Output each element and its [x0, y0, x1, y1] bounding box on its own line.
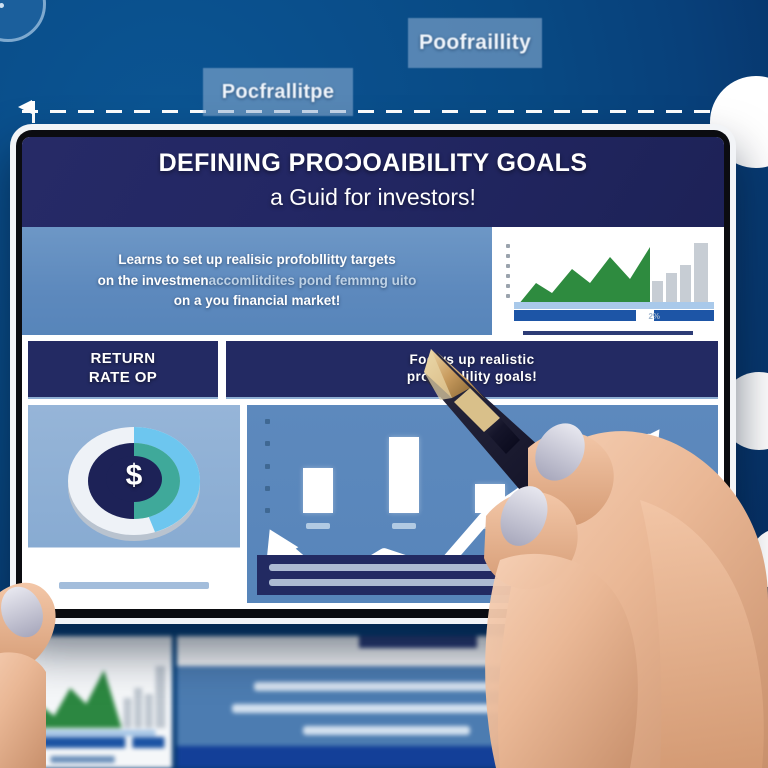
intro-line-2a: on the investmen	[98, 273, 209, 288]
bar-item	[562, 452, 592, 513]
area-chart-y-axis	[502, 235, 514, 323]
intro-line-1: Learns to set up realisic profobllitty t…	[118, 252, 396, 267]
background-card-right	[600, 636, 760, 768]
content-row-bottom: $	[22, 405, 724, 609]
presentation-header: DEFINING PROƆOAIBILITY GOALS a Guid for …	[22, 137, 724, 227]
measure-tick-right	[733, 101, 736, 123]
card-return-rate-label: RETURN RATE OP	[89, 350, 157, 388]
arrow-left-icon	[18, 100, 32, 114]
background-card-left	[8, 636, 172, 768]
page-subtitle: a Guid for investors!	[22, 184, 724, 211]
intro-text-panel: Learns to set up realisic profobllitty t…	[22, 227, 492, 335]
measure-dashed-line	[22, 110, 746, 113]
content-row-top: Learns to set up realisic profobllitty t…	[22, 227, 724, 335]
tablet-bezel: DEFINING PROƆOAIBILITY GOALS a Guid for …	[16, 130, 730, 618]
bar-item	[475, 484, 505, 513]
dollar-icon: $	[126, 459, 143, 493]
donut-chart-caption	[59, 582, 209, 589]
bar-chart-y-axis	[259, 415, 275, 533]
decorative-bubble-right-3	[750, 528, 768, 590]
card-return-rate[interactable]: RETURN RATE OP	[28, 341, 218, 399]
tablet-device: DEFINING PROƆOAIBILITY GOALS a Guid for …	[10, 124, 736, 624]
arrow-right-icon	[736, 100, 750, 114]
page-title: DEFINING PROƆOAIBILITY GOALS	[22, 149, 724, 178]
intro-line-2b: accomlitdites pond femmng uito	[209, 273, 417, 288]
card-profitability-goals-label: Foows up realistic profuBelility goals!	[407, 352, 537, 386]
bar-item	[389, 437, 419, 513]
area-chart-plot: 2%	[514, 235, 714, 323]
bar-chart	[259, 415, 706, 533]
area-chart: 2%	[502, 235, 714, 323]
floating-label-poofraillity: Poofraillity	[408, 18, 542, 68]
area-chart-pct-label: 2%	[648, 312, 660, 321]
decorative-bubble-top-left	[0, 0, 46, 42]
background-card-middle	[177, 636, 595, 768]
bar-item	[303, 468, 333, 513]
card-profitability-goals[interactable]: Foows up realistic profuBelility goals!	[226, 341, 718, 399]
tablet-screen: DEFINING PROƆOAIBILITY GOALS a Guid for …	[22, 137, 724, 609]
background-dashboard-strip	[8, 636, 760, 768]
bar-chart-caption	[257, 555, 708, 595]
donut-chart-panel: $	[28, 405, 240, 603]
area-chart-band-dark	[514, 310, 714, 321]
bar-chart-plot	[275, 415, 706, 533]
content-row-cards: RETURN RATE OP Foows up realistic profuB…	[22, 335, 724, 405]
measure-tick-left	[32, 101, 35, 123]
bar-chart-panel	[247, 405, 718, 603]
floating-label-pocfrallitpe: Pocfrallitpe	[203, 68, 353, 116]
donut-chart: $	[59, 417, 209, 545]
intro-line-3: on a you financial market!	[174, 293, 341, 308]
bar-item	[648, 474, 678, 513]
bar-chart-x-labels	[275, 523, 706, 529]
area-chart-band-light	[514, 302, 714, 309]
right-chart-panel: 2% Ratovlity gols	[492, 227, 724, 335]
scene: Poofraillity Pocfrallitpe	[0, 0, 768, 768]
